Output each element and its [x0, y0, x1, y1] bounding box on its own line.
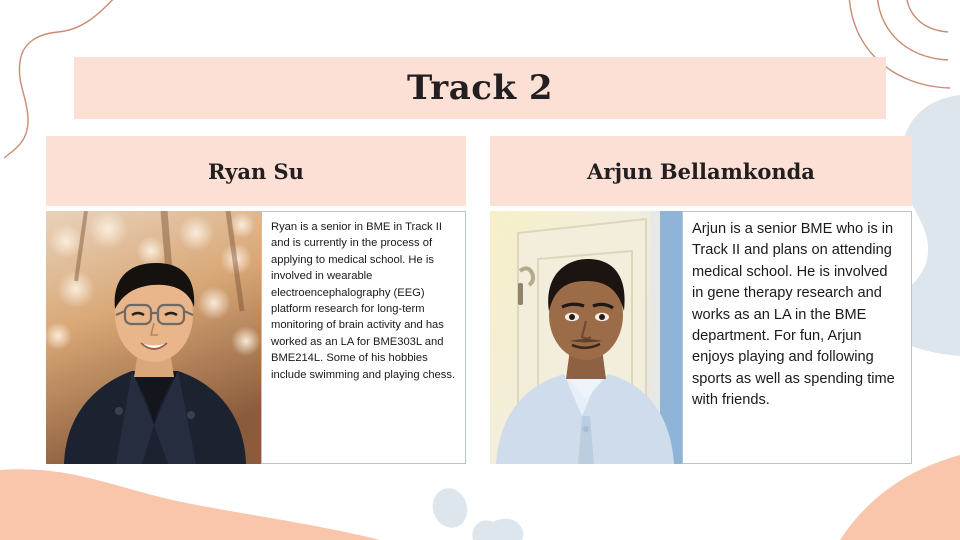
person-name: Ryan Su: [208, 161, 304, 182]
blob-small-blue-gray-1: [428, 484, 473, 533]
person-bio-box: Arjun is a senior BME who is in Track II…: [682, 211, 912, 464]
person-card-body: Arjun is a senior BME who is in Track II…: [490, 211, 912, 464]
page-title: Track 2: [407, 71, 553, 105]
person-card-body: Ryan is a senior in BME in Track II and …: [46, 211, 466, 464]
person-name-band: Arjun Bellamkonda: [490, 136, 912, 206]
concentric-arcs-top-right-2: [906, 0, 948, 32]
person-bio-box: Ryan is a senior in BME in Track II and …: [261, 211, 466, 464]
person-card-arjun-bellamkonda: Arjun Bellamkonda: [490, 136, 912, 464]
blob-bottom-left-salmon: [0, 469, 380, 540]
person-photo-ryan-su: [46, 211, 261, 464]
person-name-band: Ryan Su: [46, 136, 466, 206]
blob-small-blue-gray-2: [472, 519, 523, 540]
person-bio: Ryan is a senior in BME in Track II and …: [271, 219, 456, 383]
slide-canvas: Track 2 Ryan Su: [0, 0, 960, 540]
person-card-ryan-su: Ryan Su: [46, 136, 466, 464]
blob-bottom-right-salmon: [840, 455, 960, 540]
person-bio: Arjun is a senior BME who is in Track II…: [692, 219, 902, 412]
person-name: Arjun Bellamkonda: [587, 161, 815, 182]
title-band: Track 2: [74, 57, 886, 119]
person-photo-arjun-bellamkonda: [490, 211, 682, 464]
